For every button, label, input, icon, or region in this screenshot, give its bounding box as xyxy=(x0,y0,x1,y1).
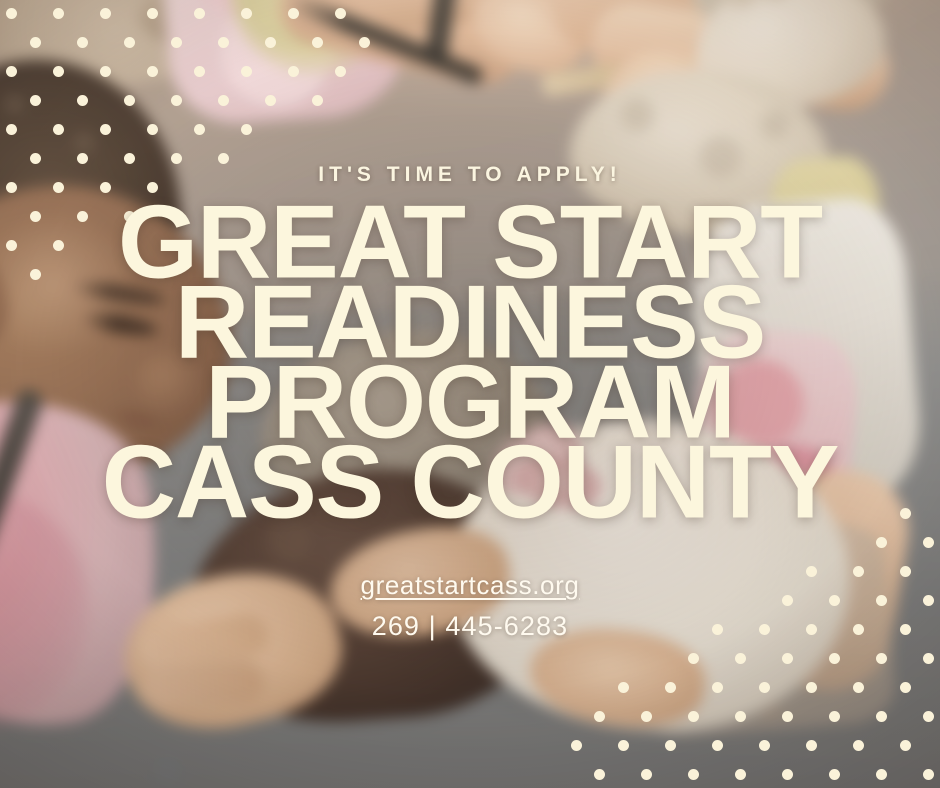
child-nose xyxy=(135,350,205,416)
hand-finger-2 xyxy=(143,660,266,710)
background-photo-layers xyxy=(0,0,940,788)
background-photo xyxy=(0,0,940,788)
website-link[interactable]: greatstartcass.org xyxy=(361,570,580,601)
poster-canvas: IT'S TIME TO APPLY! GREAT START READINES… xyxy=(0,0,940,788)
